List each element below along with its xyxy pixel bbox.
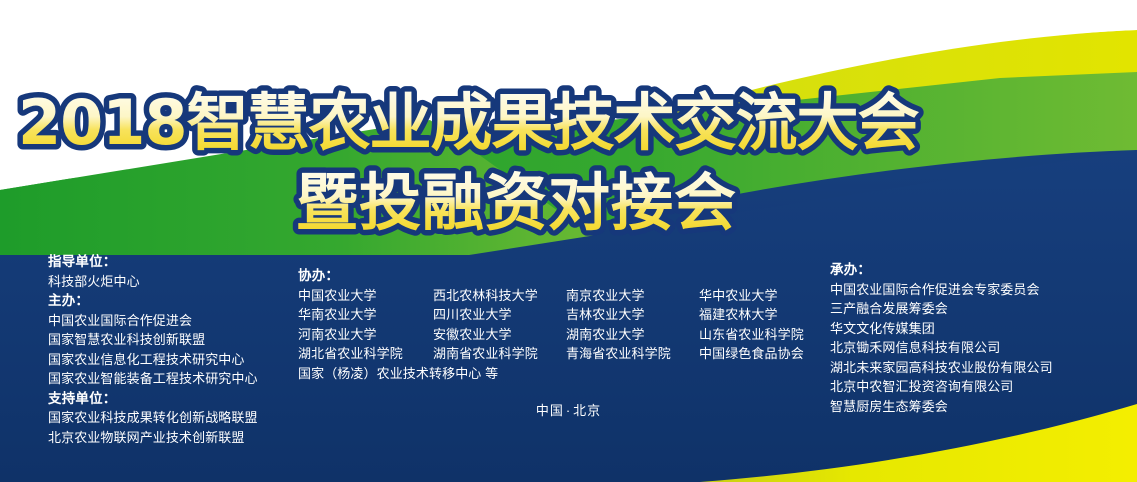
organizer-line: 华文文化传媒集团 <box>830 319 1130 339</box>
credits-left-header-host: 主办： <box>48 291 298 311</box>
coorganizer-cell: 湖南省农业科学院 <box>433 344 566 364</box>
credits-left-line: 国家智慧农业科技创新联盟 <box>48 330 298 350</box>
coorganizer-cell: 西北农林科技大学 <box>433 286 566 306</box>
coorganizer-cell: 湖北省农业科学院 <box>298 344 433 364</box>
credits-left-header-guidance: 指导单位： <box>48 252 298 272</box>
credits-left-line: 国家农业智能装备工程技术研究中心 <box>48 369 298 389</box>
organizer-line: 中国农业国际合作促进会专家委员会 <box>830 280 1130 300</box>
coorganizer-last-line: 国家（杨凌）农业技术转移中心 等 <box>298 364 818 384</box>
coorganizer-cell: 安徽农业大学 <box>433 325 566 345</box>
coorganizer-cell: 华南农业大学 <box>298 305 433 325</box>
credits-left-line: 国家农业信息化工程技术研究中心 <box>48 350 298 370</box>
organizer-line: 湖北未来家园高科技农业股份有限公司 <box>830 358 1130 378</box>
coorganizer-cell: 南京农业大学 <box>566 286 699 306</box>
organizer-line: 北京锄禾网信息科技有限公司 <box>830 338 1130 358</box>
coorganizer-cell: 中国农业大学 <box>298 286 433 306</box>
credits-area: 指导单位： 科技部火炬中心 主办： 中国农业国际合作促进会 国家智慧农业科技创新… <box>0 252 1137 452</box>
coorganizer-cell: 四川农业大学 <box>433 305 566 325</box>
credits-column-right: 承办： 中国农业国际合作促进会专家委员会 三产融合发展筹委会 华文文化传媒集团 … <box>830 260 1130 416</box>
credits-left-line: 科技部火炬中心 <box>48 272 298 292</box>
coorganizer-cell: 华中农业大学 <box>699 286 818 306</box>
coorganizer-grid: 中国农业大学 西北农林科技大学 南京农业大学 华中农业大学 华南农业大学 四川农… <box>298 286 818 384</box>
coorganizer-cell: 中国绿色食品协会 <box>699 344 818 364</box>
location-city: 北京 <box>573 403 601 418</box>
coorganizer-cell: 山东省农业科学院 <box>699 325 818 345</box>
coorganizer-cell: 青海省农业科学院 <box>566 344 699 364</box>
conference-banner: 2018智慧农业成果技术交流大会 2018智慧农业成果技术交流大会 暨投融资对接… <box>0 0 1137 482</box>
location-country: 中国 <box>536 403 564 418</box>
location-separator-icon: · <box>564 403 573 418</box>
coorganizer-cell: 吉林农业大学 <box>566 305 699 325</box>
coorganizer-cell: 湖南农业大学 <box>566 325 699 345</box>
organizer-line: 北京中农智汇投资咨询有限公司 <box>830 377 1130 397</box>
coorganizer-cell: 河南农业大学 <box>298 325 433 345</box>
organizer-line: 三产融合发展筹委会 <box>830 299 1130 319</box>
credits-column-middle: 协办： 中国农业大学 西北农林科技大学 南京农业大学 华中农业大学 华南农业大学… <box>298 266 818 383</box>
credits-left-line: 中国农业国际合作促进会 <box>48 311 298 331</box>
credits-middle-header-coorganizer: 协办： <box>298 266 818 286</box>
credits-right-header-organizer: 承办： <box>830 260 1130 280</box>
coorganizer-cell: 福建农林大学 <box>699 305 818 325</box>
credits-left-line: 北京农业物联网产业技术创新联盟 <box>48 428 298 448</box>
location-line: 中国·北京 <box>0 400 1137 419</box>
